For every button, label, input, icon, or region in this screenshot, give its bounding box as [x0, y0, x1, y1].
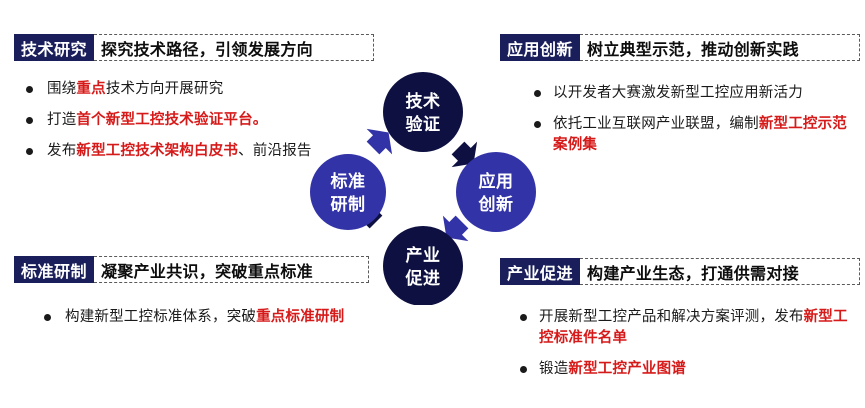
panel-application-innovation: 应用创新 树立典型示范，推动创新实践 以开发者大赛激发新型工控应用新活力依托工业…	[500, 34, 860, 172]
highlighted-text: 重点	[76, 81, 105, 97]
plain-text: 发布	[47, 143, 76, 159]
cycle-node-tech-verification-line2: 验证	[406, 114, 441, 134]
bullet-dot-icon	[26, 148, 33, 155]
bullet-list-industry-promotion: 开展新型工控产品和解决方案评测，发布新型工控标准件名单锻造新型工控产业图谱	[508, 307, 860, 380]
bullet-dot-icon	[44, 314, 51, 321]
plain-text: 技术方向开展研究	[106, 81, 224, 97]
plain-text: 、前沿报告	[238, 143, 312, 159]
badge-application-innovation: 应用创新	[500, 34, 580, 61]
badge-standard-development: 标准研制	[14, 256, 94, 283]
cycle-node-application-innovation-line1: 应用	[479, 171, 514, 191]
highlighted-text: 新型工控技术架构白皮书	[76, 143, 238, 159]
panel-header-industry-promotion: 产业促进 构建产业生态，打通供需对接	[500, 258, 860, 285]
plain-text: 构建新型工控标准体系，突破	[65, 309, 256, 325]
highlighted-text: 新型工控产业图谱	[568, 361, 686, 377]
plain-text: 打造	[47, 112, 76, 128]
cycle-node-industry-promotion[interactable]: 产业 促进	[383, 226, 463, 305]
list-item: 依托工业互联网产业联盟，编制新型工控示范案例集	[522, 114, 860, 156]
list-item: 锻造新型工控产业图谱	[508, 359, 860, 380]
panel-header-application-innovation: 应用创新 树立典型示范，推动创新实践	[500, 34, 860, 61]
list-item: 开展新型工控产品和解决方案评测，发布新型工控标准件名单	[508, 307, 860, 349]
caption-industry-promotion: 构建产业生态，打通供需对接	[580, 258, 860, 285]
list-item: 以开发者大赛激发新型工控应用新活力	[522, 83, 860, 104]
slide-root: 技术研究 探究技术路径，引领发展方向 围绕重点技术方向开展研究打造首个新型工控技…	[0, 0, 865, 408]
bullet-dot-icon	[26, 117, 33, 124]
cycle-node-tech-verification[interactable]: 技术 验证	[383, 72, 463, 152]
cycle-node-industry-promotion-line2: 促进	[405, 268, 441, 288]
cycle-node-standard-development-line2: 研制	[331, 194, 366, 214]
panel-industry-promotion: 产业促进 构建产业生态，打通供需对接 开展新型工控产品和解决方案评测，发布新型工…	[500, 258, 860, 396]
plain-text: 围绕	[47, 81, 76, 97]
bullet-dot-icon	[520, 366, 527, 373]
plain-text: 以开发者大赛激发新型工控应用新活力	[553, 85, 803, 101]
bullet-list-standard-development: 构建新型工控标准体系，突破重点标准研制	[32, 307, 369, 328]
cycle-diagram: 技术 验证 应用 创新 产业 促进 标准 研制	[310, 70, 545, 305]
badge-technology-research: 技术研究	[14, 34, 94, 61]
caption-technology-research: 探究技术路径，引领发展方向	[94, 34, 374, 61]
cycle-node-standard-development[interactable]: 标准 研制	[310, 154, 386, 230]
cycle-node-standard-development-line1: 标准	[331, 171, 366, 191]
list-item: 构建新型工控标准体系，突破重点标准研制	[32, 307, 369, 328]
plain-text: 锻造	[539, 361, 568, 377]
plain-text: 开展新型工控产品和解决方案评测，发布	[539, 309, 804, 325]
cycle-node-application-innovation[interactable]: 应用 创新	[456, 152, 536, 232]
cycle-node-industry-promotion-line1: 产业	[406, 245, 441, 265]
cycle-node-tech-verification-line1: 技术	[406, 91, 441, 111]
highlighted-text: 重点标准研制	[256, 309, 344, 325]
plain-text: 依托工业互联网产业联盟，编制	[553, 116, 759, 132]
panel-header-technology-research: 技术研究 探究技术路径，引领发展方向	[14, 34, 374, 61]
caption-application-innovation: 树立典型示范，推动创新实践	[580, 34, 860, 61]
cycle-node-application-innovation-line2: 创新	[478, 194, 514, 214]
highlighted-text: 首个新型工控技术验证平台。	[76, 112, 267, 128]
bullet-dot-icon	[26, 86, 33, 93]
bullet-dot-icon	[520, 314, 527, 321]
bullet-list-application-innovation: 以开发者大赛激发新型工控应用新活力依托工业互联网产业联盟，编制新型工控示范案例集	[522, 83, 860, 156]
